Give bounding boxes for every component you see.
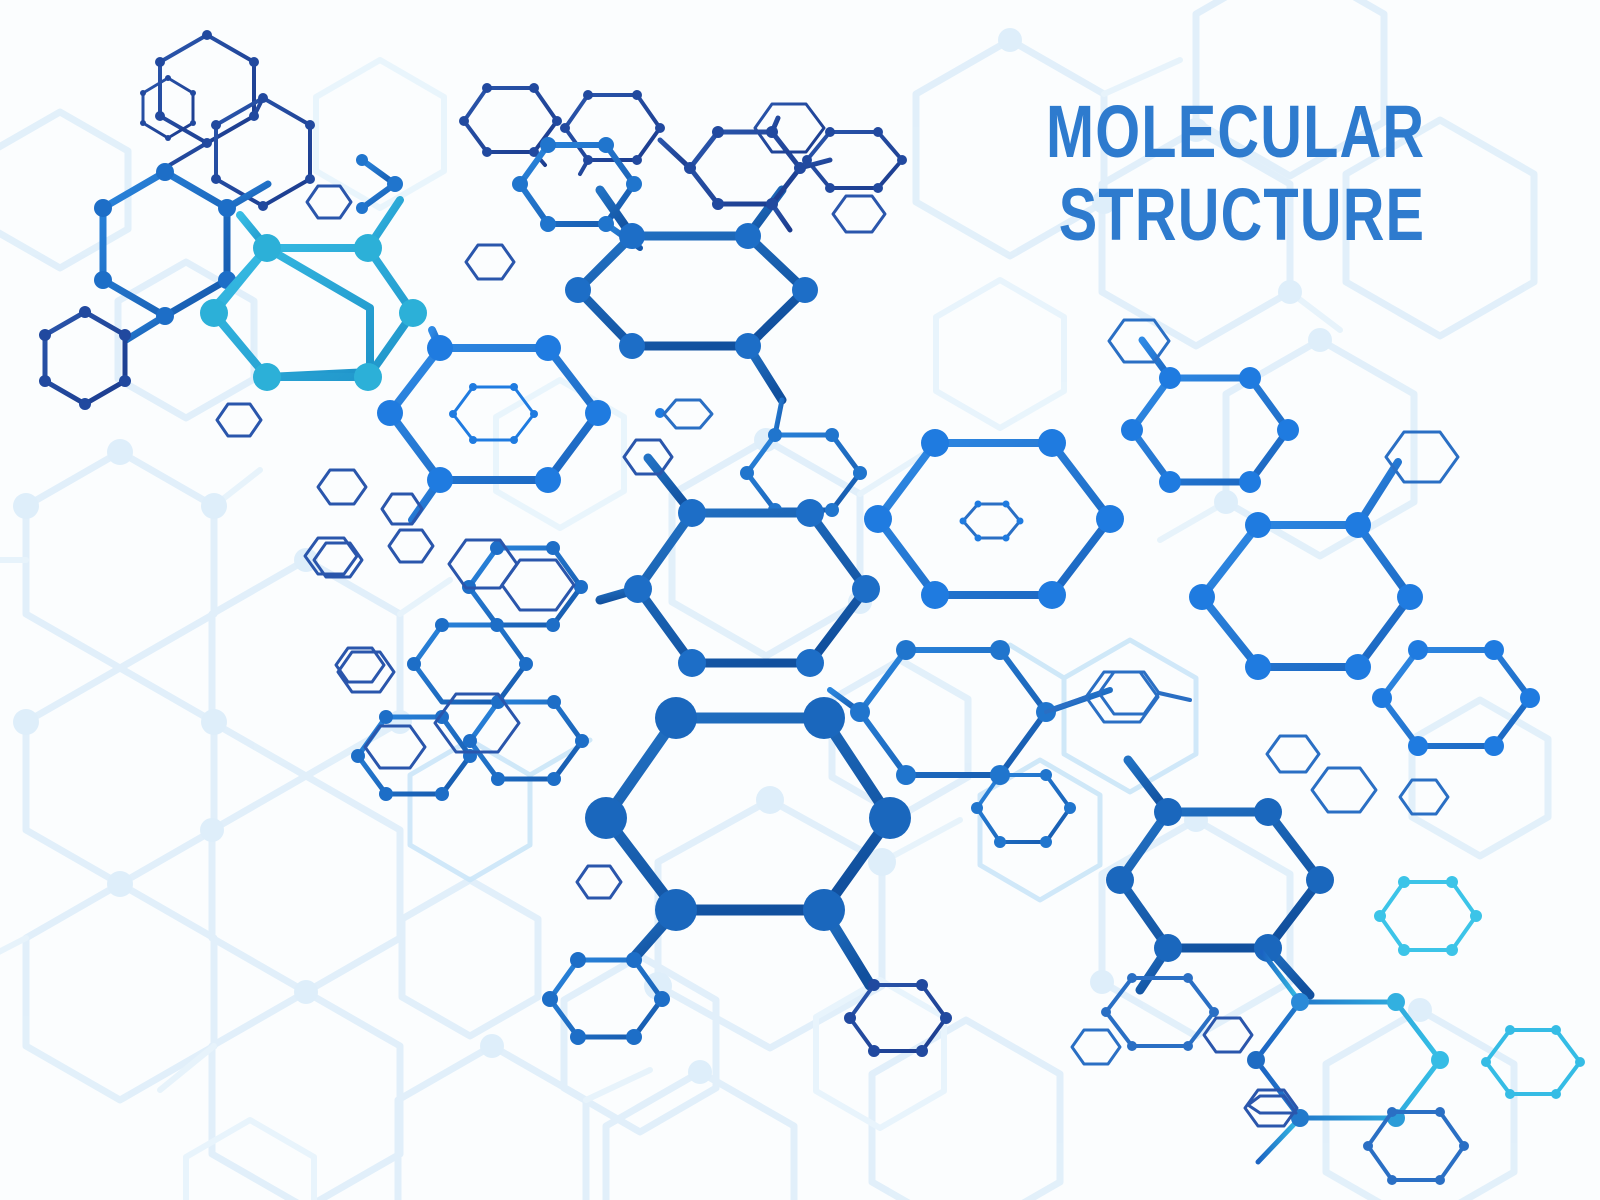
nodes-centre-top-large	[565, 223, 818, 359]
molecule-cyan-large	[213, 200, 413, 377]
page-title-line-1: MOLECULAR	[1046, 96, 1425, 167]
molecule-inner-ring-centre	[878, 443, 1110, 595]
nodes-cyan-large	[200, 234, 427, 391]
molecule-bottom-right-sat-b	[1368, 1112, 1464, 1180]
satellite-hexagon-right-of-ring	[664, 400, 712, 428]
midground-hexagon-layer	[410, 640, 1196, 900]
hexagon-outline-tiny-hero-left	[577, 866, 621, 898]
molecule-bottom-right-cluster	[1190, 952, 1512, 1162]
molecule-left-mid	[103, 172, 268, 340]
molecule-hero-large	[606, 718, 890, 985]
molecule-small-right-of-centre	[747, 400, 860, 510]
molecule-centre	[600, 458, 866, 663]
page-title-line-2: STRUCTURE	[1046, 179, 1425, 250]
bond-linkers	[1046, 693, 1190, 712]
nodes-right-mid	[1189, 512, 1423, 680]
molecule-top-right-chain	[660, 104, 902, 230]
nodes-far-right	[1372, 640, 1540, 756]
nodes-right-lower-large	[1106, 798, 1334, 962]
nodes-right-upper	[1121, 367, 1299, 493]
title-block: MOLECULAR STRUCTURE	[939, 96, 1425, 250]
nodes-teal-small-right	[1374, 876, 1482, 956]
molecule-left-lower	[45, 312, 125, 404]
molecule-teal-small-right	[1380, 882, 1476, 950]
molecule-below-hero-right	[850, 985, 946, 1051]
nodes-inner-ring-centre	[864, 429, 1124, 609]
hexagon-outline-small-right-mid	[1386, 432, 1458, 482]
nodes-top-centre	[459, 83, 665, 165]
molecule-far-right	[1382, 650, 1530, 746]
hexagon-outline-small-bottom-right	[1204, 1018, 1297, 1126]
inner-hexagon-centre	[963, 504, 1020, 538]
poster-canvas: MOLECULAR STRUCTURE	[0, 0, 1600, 1200]
hexagon-outline-small-left	[314, 470, 433, 682]
